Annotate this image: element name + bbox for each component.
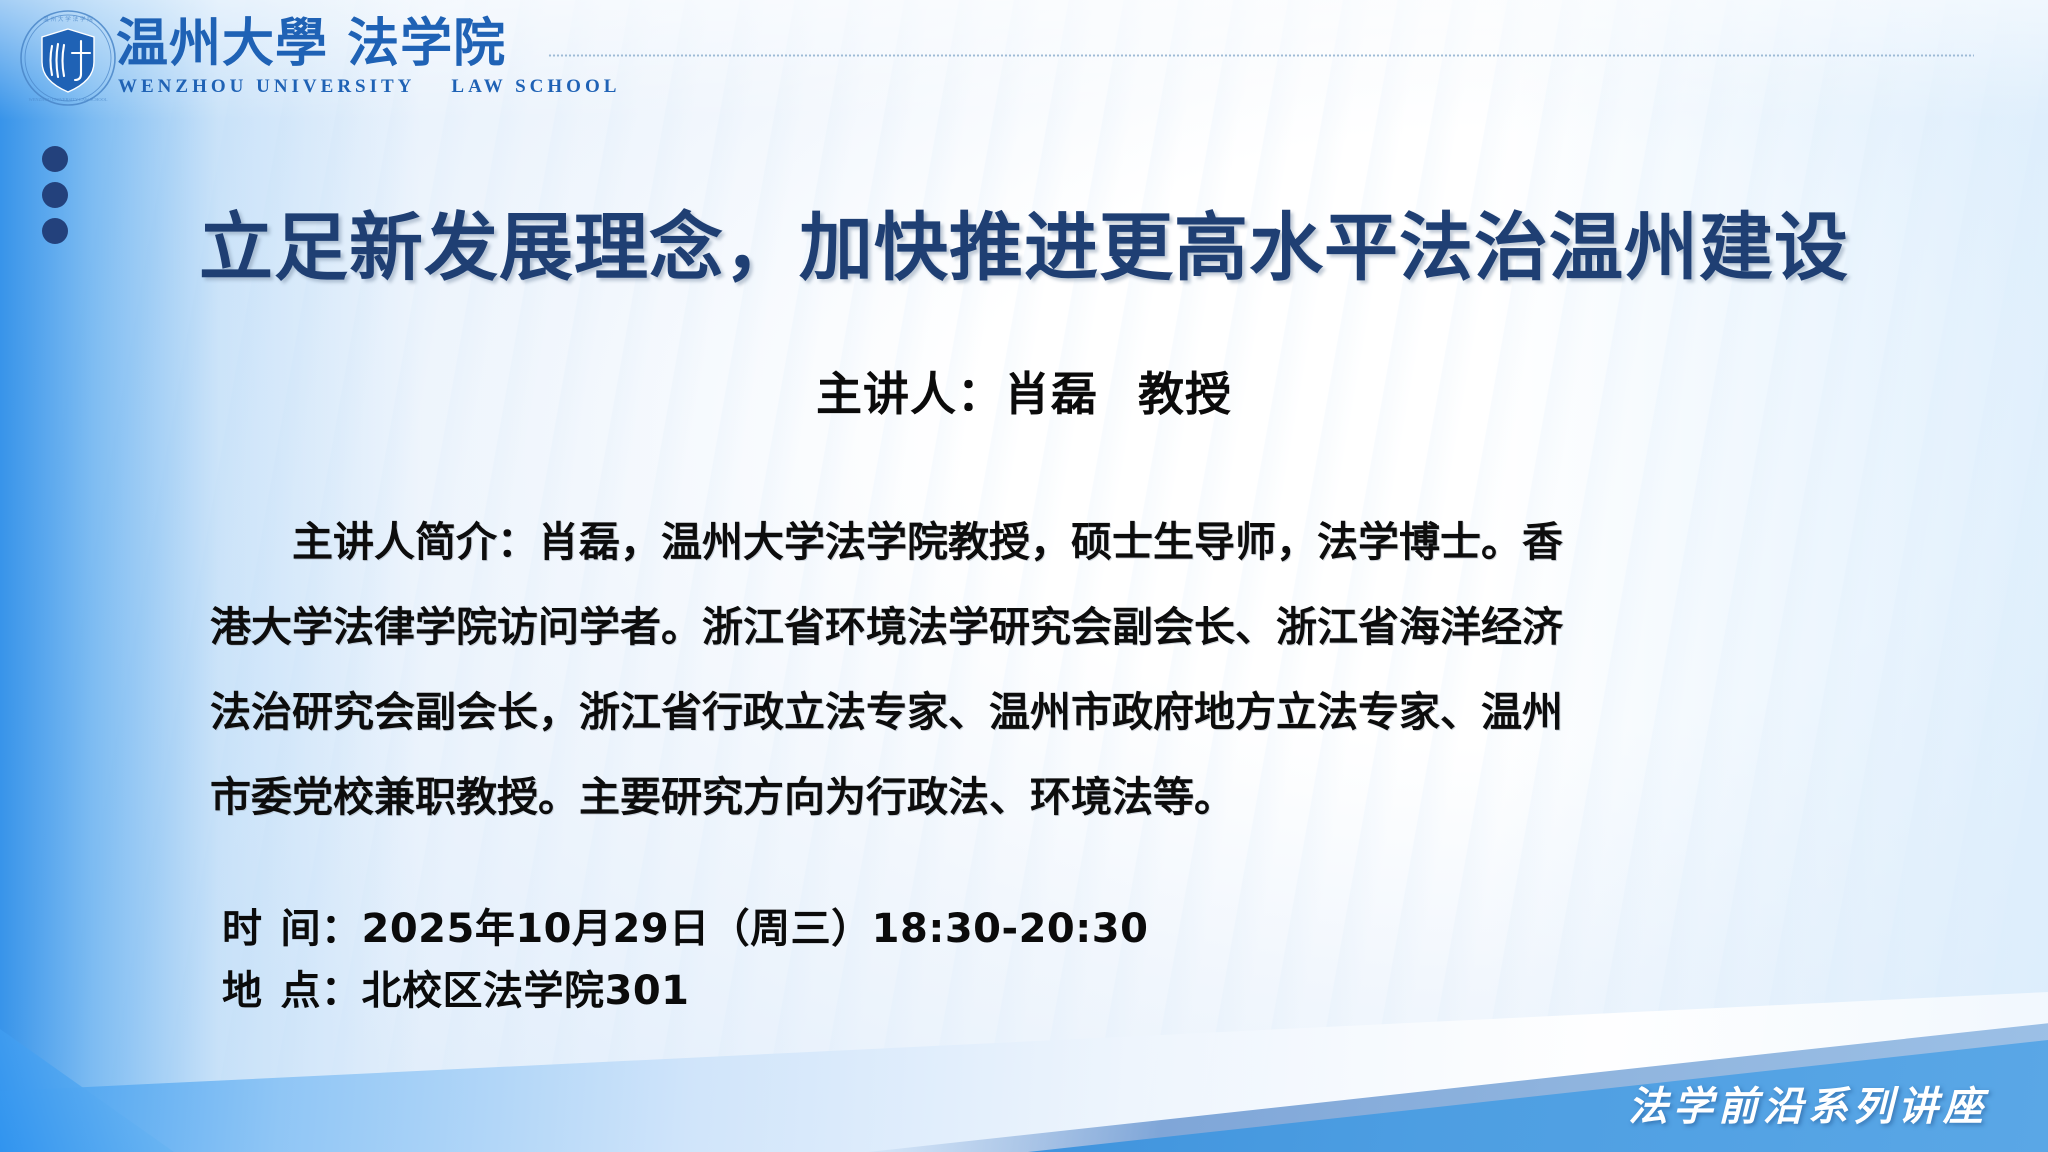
decor-dot [42,146,68,172]
svg-text:温 州 大 学 法 学 院: 温 州 大 学 法 学 院 [43,15,93,23]
bio-line-text: 市委党校兼职教授。主要研究方向为行政法、环境法等。 [210,773,1235,821]
brand-name-en: WENZHOU UNIVERSITYLAW SCHOOL [118,76,620,98]
bio-line: 市委党校兼职教授。主要研究方向为行政法、环境法等。 [210,755,1850,840]
series-label: 法学前沿系列讲座 [1628,1074,1988,1132]
speaker-name: 肖磊 [1004,367,1098,421]
event-time-row: 时间：2025年10月29日（周三）18:30-20:30 [222,898,1148,960]
speaker-rank: 教授 [1138,367,1232,421]
lecture-title: 立足新发展理念，加快推进更高水平法治温州建设 [0,188,2048,295]
event-place-row: 地点：北校区法学院301 [222,960,1148,1022]
time-label: 时 [222,906,263,952]
event-details: 时间：2025年10月29日（周三）18:30-20:30 地点：北校区法学院3… [222,898,1148,1022]
speaker-bio: 主讲人简介：肖磊，温州大学法学院教授，硕士生导师，法学博士。香 港大学法律学院访… [210,500,1850,840]
place-value: 北校区法学院301 [362,968,690,1014]
header-dotted-divider [548,54,1974,57]
poster-header: 温 州 大 学 法 学 院 WENZHOU UNIVERSITY LAW SCH… [0,0,2048,112]
bio-line: 法治研究会副会长，浙江省行政立法专家、温州市政府地方立法专家、温州 [210,670,1850,755]
bio-line: 港大学法律学院访问学者。浙江省环境法学研究会副会长、浙江省海洋经济 [210,585,1850,670]
brand-name-cn: 温州大學 法学院 [116,18,506,70]
bio-line-text: 港大学法律学院访问学者。浙江省环境法学研究会副会长、浙江省海洋经济 [210,603,1563,651]
bio-line-text: 主讲人简介：肖磊，温州大学法学院教授，硕士生导师，法学博士。香 [292,518,1563,566]
time-label-colon: 间： [281,906,362,952]
university-crest-icon: 温 州 大 学 法 学 院 WENZHOU UNIVERSITY LAW SCH… [18,8,118,108]
brand-en-university: WENZHOU UNIVERSITY [118,76,415,97]
lecture-poster: 温 州 大 学 法 学 院 WENZHOU UNIVERSITY LAW SCH… [0,0,2048,1152]
time-value: 2025年10月29日（周三）18:30-20:30 [362,906,1149,952]
bio-line: 主讲人简介：肖磊，温州大学法学院教授，硕士生导师，法学博士。香 [210,500,1850,585]
speaker-line: 主讲人：肖磊教授 [0,358,2048,424]
speaker-label: 主讲人： [816,367,1004,421]
bio-line-text: 法治研究会副会长，浙江省行政立法专家、温州市政府地方立法专家、温州 [210,688,1563,736]
svg-text:WENZHOU UNIVERSITY LAW SCHOOL: WENZHOU UNIVERSITY LAW SCHOOL [29,97,108,102]
brand-en-school: LAW SCHOOL [451,76,620,97]
place-label: 地 [222,968,263,1014]
place-label-colon: 点： [281,968,362,1014]
